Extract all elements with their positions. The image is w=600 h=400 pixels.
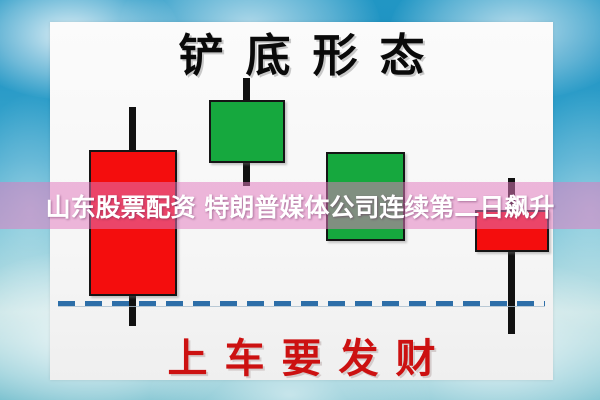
footer-bottom: 上车要发财 xyxy=(50,330,553,380)
support-line xyxy=(58,301,545,306)
candlestick-2-body xyxy=(209,100,285,163)
watermark-band: 山东股票配资 特朗普媒体公司连续第二日飙升 xyxy=(0,182,600,229)
watermark-text: 山东股票配资 特朗普媒体公司连续第二日飙升 xyxy=(0,188,600,224)
stock-pattern-image: 铲底形态 上车要发财 山东股票配资 特朗普媒体公司连续第二日飙升 xyxy=(0,0,600,400)
headline-top: 铲底形态 xyxy=(50,20,553,82)
